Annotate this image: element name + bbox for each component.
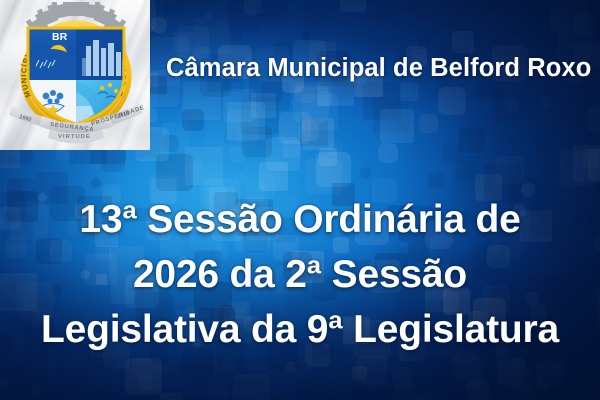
- heading-line-3: Legislativa da 9ª Legislatura: [12, 302, 588, 357]
- session-heading: 13ª Sessão Ordinária de 2026 da 2ª Sessã…: [12, 192, 588, 357]
- svg-text:VIRTUDE: VIRTUDE: [58, 134, 91, 140]
- organisation-title: Câmara Municipal de Belford Roxo: [166, 52, 586, 84]
- session-banner: MUNICÍPIO DE BELFORD ROXO: [0, 0, 600, 400]
- belford-roxo-coat-of-arms-icon: MUNICÍPIO DE BELFORD ROXO: [6, 2, 146, 144]
- heading-line-2: 2026 da 2ª Sessão: [12, 247, 588, 302]
- br-monogram: BR: [52, 31, 68, 43]
- heading-line-1: 13ª Sessão Ordinária de: [12, 192, 588, 247]
- coat-of-arms-flag-block: MUNICÍPIO DE BELFORD ROXO: [0, 0, 150, 150]
